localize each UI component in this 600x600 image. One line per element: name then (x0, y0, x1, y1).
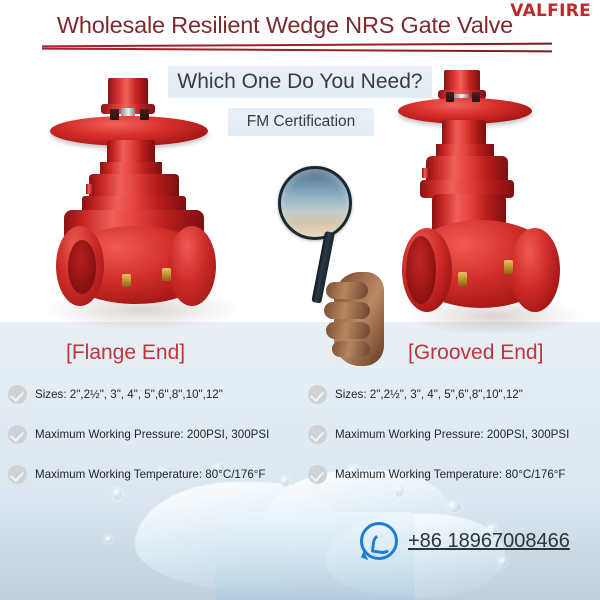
magnifier-lens-icon (278, 166, 352, 240)
check-circle-icon (308, 385, 327, 404)
check-circle-icon (8, 385, 27, 404)
spec-label: Maximum Working Temperature: 80°C/176°F (35, 468, 266, 481)
check-circle-icon (308, 465, 327, 484)
spec-label: Maximum Working Pressure: 200PSI, 300PSI (35, 428, 269, 441)
spec-label: Sizes: 2",2½", 3", 4", 5",6",8",10",12" (35, 388, 223, 401)
spec-label: Maximum Working Pressure: 200PSI, 300PSI (335, 428, 569, 441)
whatsapp-phone-icon[interactable] (360, 522, 398, 560)
page-title: Wholesale Resilient Wedge NRS Gate Valve (0, 12, 570, 39)
grooved-end-heading: [Grooved End] (408, 341, 543, 365)
check-circle-icon (308, 425, 327, 444)
title-underline-decoration (42, 42, 552, 56)
spec-row-left-sizes: Sizes: 2",2½", 3", 4", 5",6",8",10",12" (8, 385, 223, 404)
spec-row-right-temperature: Maximum Working Temperature: 80°C/176°F (308, 465, 566, 484)
magnifying-glass-decoration (278, 166, 398, 316)
promo-poster: VALFIRE Wholesale Resilient Wedge NRS Ga… (0, 0, 600, 600)
spec-row-right-pressure: Maximum Working Pressure: 200PSI, 300PSI (308, 425, 569, 444)
grooved-end-valve-image (382, 70, 600, 332)
spec-row-right-sizes: Sizes: 2",2½", 3", 4", 5",6",8",10",12" (308, 385, 523, 404)
spec-label: Maximum Working Temperature: 80°C/176°F (335, 468, 566, 481)
spec-row-left-temperature: Maximum Working Temperature: 80°C/176°F (8, 465, 266, 484)
check-circle-icon (8, 425, 27, 444)
spec-label: Sizes: 2",2½", 3", 4", 5",6",8",10",12" (335, 388, 523, 401)
contact-block[interactable]: +86 18967008466 (360, 522, 570, 560)
spec-row-left-pressure: Maximum Working Pressure: 200PSI, 300PSI (8, 425, 269, 444)
flange-end-heading: [Flange End] (66, 341, 185, 365)
phone-number[interactable]: +86 18967008466 (408, 530, 570, 553)
check-circle-icon (8, 465, 27, 484)
flange-end-valve-image (22, 78, 252, 328)
hand-illustration (322, 262, 390, 370)
